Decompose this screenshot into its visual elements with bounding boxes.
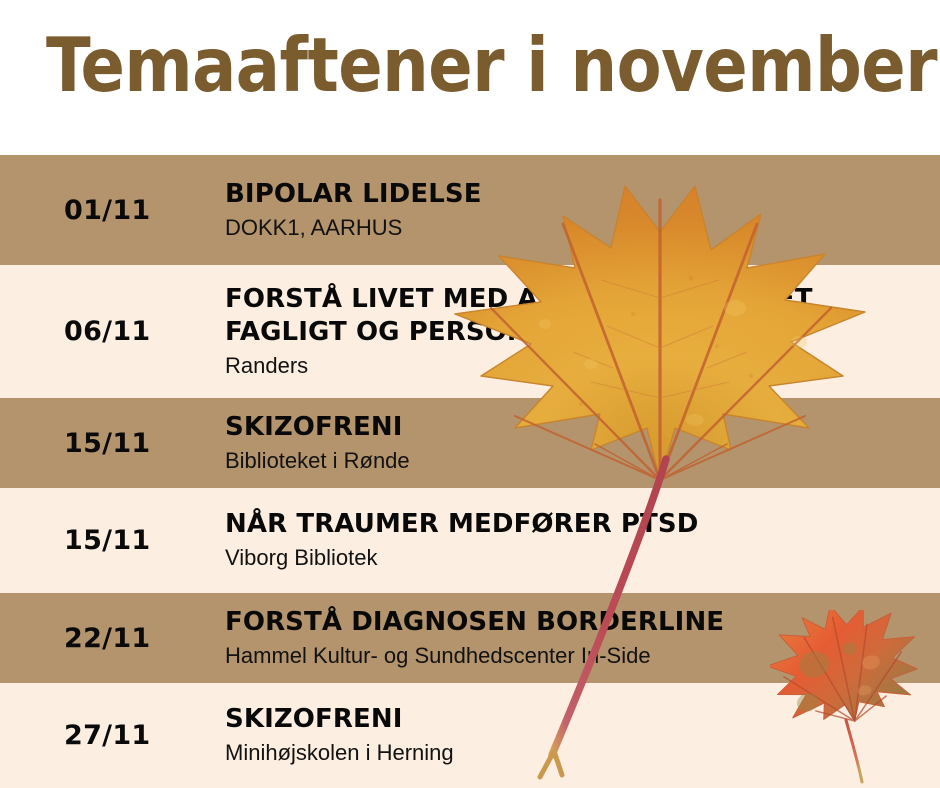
event-venue: DOKK1, AARHUS bbox=[225, 213, 928, 243]
event-body: FORSTÅ DIAGNOSEN BORDERLINE Hammel Kultu… bbox=[225, 606, 940, 671]
event-venue: Viborg Bibliotek bbox=[225, 543, 928, 573]
event-row: 06/11 FORSTÅ LIVET MED AUTISME UD FRA ET… bbox=[0, 265, 940, 398]
event-body: SKIZOFRENI Minihøjskolen i Herning bbox=[225, 703, 940, 768]
event-body: FORSTÅ LIVET MED AUTISME UD FRA ET FAGLI… bbox=[225, 283, 940, 381]
event-title: FORSTÅ LIVET MED AUTISME UD FRA ET FAGLI… bbox=[225, 283, 928, 349]
event-title: NÅR TRAUMER MEDFØRER PTSD bbox=[225, 508, 928, 541]
event-body: NÅR TRAUMER MEDFØRER PTSD Viborg Bibliot… bbox=[225, 508, 940, 573]
poster-header: Temaaftener i november bbox=[0, 0, 940, 155]
event-title: SKIZOFRENI bbox=[225, 703, 928, 736]
event-title: FORSTÅ DIAGNOSEN BORDERLINE bbox=[225, 606, 928, 639]
event-venue: Hammel Kultur- og Sundhedscenter In-Side bbox=[225, 641, 928, 671]
event-list: 01/11 BIPOLAR LIDELSE DOKK1, AARHUS 06/1… bbox=[0, 155, 940, 788]
event-row: 15/11 NÅR TRAUMER MEDFØRER PTSD Viborg B… bbox=[0, 488, 940, 593]
event-date: 15/11 bbox=[0, 428, 225, 459]
event-date: 06/11 bbox=[0, 316, 225, 347]
event-row: 15/11 SKIZOFRENI Biblioteket i Rønde bbox=[0, 398, 940, 488]
event-title: SKIZOFRENI bbox=[225, 411, 928, 444]
event-date: 15/11 bbox=[0, 525, 225, 556]
event-venue: Biblioteket i Rønde bbox=[225, 446, 928, 476]
event-venue: Randers bbox=[225, 351, 928, 381]
event-body: BIPOLAR LIDELSE DOKK1, AARHUS bbox=[225, 178, 940, 243]
event-date: 01/11 bbox=[0, 195, 225, 226]
event-date: 22/11 bbox=[0, 623, 225, 654]
event-row: 27/11 SKIZOFRENI Minihøjskolen i Herning bbox=[0, 683, 940, 788]
event-row: 22/11 FORSTÅ DIAGNOSEN BORDERLINE Hammel… bbox=[0, 593, 940, 683]
event-body: SKIZOFRENI Biblioteket i Rønde bbox=[225, 411, 940, 476]
event-venue: Minihøjskolen i Herning bbox=[225, 738, 928, 768]
event-date: 27/11 bbox=[0, 720, 225, 751]
page-title: Temaaftener i november bbox=[46, 24, 937, 106]
event-row: 01/11 BIPOLAR LIDELSE DOKK1, AARHUS bbox=[0, 155, 940, 265]
event-title: BIPOLAR LIDELSE bbox=[225, 178, 928, 211]
poster-canvas: 01/11 BIPOLAR LIDELSE DOKK1, AARHUS 06/1… bbox=[0, 0, 940, 788]
